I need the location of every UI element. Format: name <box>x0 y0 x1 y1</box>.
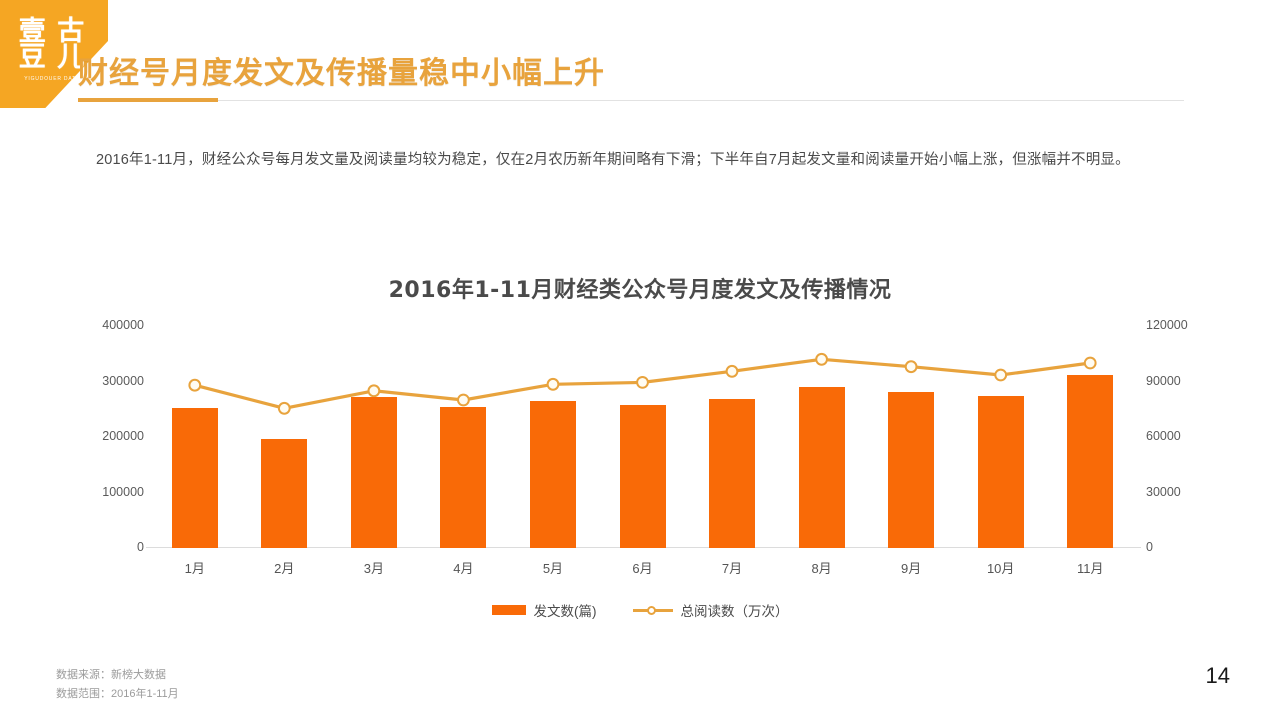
y-axis-right-tick: 90000 <box>1146 374 1181 388</box>
data-range-line: 数据范围：2016年1-11月 <box>56 685 179 704</box>
x-axis-label-10月: 10月 <box>956 558 1046 577</box>
chart-legend: 发文数(篇) 总阅读数（万次） <box>0 600 1280 620</box>
bar-2月 <box>261 439 307 548</box>
line-marker-1月 <box>189 380 200 391</box>
line-marker-6月 <box>637 377 648 388</box>
x-axis-label-7月: 7月 <box>687 558 777 577</box>
line-marker-8月 <box>816 354 827 365</box>
line-marker-9月 <box>906 361 917 372</box>
y-axis-left-tick: 300000 <box>102 374 144 388</box>
bar-3月 <box>351 397 397 548</box>
page-number: 14 <box>1206 663 1230 689</box>
bar-4月 <box>440 407 486 548</box>
chart-title: 2016年1-11月财经类公众号月度发文及传播情况 <box>0 272 1280 304</box>
header-divider <box>78 100 1184 101</box>
legend-bar-swatch <box>492 605 526 615</box>
bar-9月 <box>888 392 934 548</box>
y-axis-left-tick: 200000 <box>102 429 144 443</box>
line-marker-2月 <box>279 403 290 414</box>
line-marker-5月 <box>548 379 559 390</box>
header-divider-accent <box>78 98 218 102</box>
y-axis-right-tick: 30000 <box>1146 485 1181 499</box>
line-marker-4月 <box>458 395 469 406</box>
legend-line-label: 总阅读数（万次） <box>681 600 789 620</box>
logo-subtitle: YIGUDOUER DATA <box>24 76 79 82</box>
plot-area <box>150 326 1135 548</box>
bar-10月 <box>978 396 1024 548</box>
bar-11月 <box>1067 375 1113 548</box>
line-marker-7月 <box>727 366 738 377</box>
data-source-line: 数据来源：新榜大数据 <box>56 666 179 685</box>
x-axis-label-4月: 4月 <box>419 558 509 577</box>
legend-line-swatch <box>633 605 673 615</box>
footer-notes: 数据来源：新榜大数据 数据范围：2016年1-11月 <box>56 666 179 704</box>
intro-paragraph: 2016年1-11月，财经公众号每月发文量及阅读量均较为稳定，仅在2月农历新年期… <box>96 144 1176 177</box>
legend-item-line[interactable]: 总阅读数（万次） <box>633 600 789 620</box>
legend-item-bar[interactable]: 发文数(篇) <box>492 600 597 620</box>
line-marker-11月 <box>1085 358 1096 369</box>
y-axis-left-tick: 0 <box>137 540 144 554</box>
legend-bar-label: 发文数(篇) <box>534 600 597 620</box>
bar-6月 <box>620 405 666 548</box>
page-title: 财经号月度发文及传播量稳中小幅上升 <box>78 48 605 92</box>
y-axis-right-tick: 120000 <box>1146 318 1188 332</box>
x-axis-label-9月: 9月 <box>866 558 956 577</box>
bar-1月 <box>172 408 218 548</box>
x-axis-label-6月: 6月 <box>598 558 688 577</box>
x-axis-label-11月: 11月 <box>1045 558 1135 577</box>
line-marker-3月 <box>369 385 380 396</box>
x-axis-label-5月: 5月 <box>508 558 598 577</box>
bar-5月 <box>530 401 576 548</box>
y-axis-right-tick: 0 <box>1146 540 1153 554</box>
legend-line-marker-icon <box>647 606 656 615</box>
y-axis-right-tick: 60000 <box>1146 429 1181 443</box>
y-axis-left: 0100000200000300000400000 <box>60 318 144 558</box>
x-axis-label-8月: 8月 <box>777 558 867 577</box>
y-axis-left-tick: 400000 <box>102 318 144 332</box>
x-axis-label-3月: 3月 <box>329 558 419 577</box>
x-axis-label-2月: 2月 <box>240 558 330 577</box>
bar-7月 <box>709 399 755 548</box>
x-axis-label-1月: 1月 <box>150 558 240 577</box>
bar-8月 <box>799 387 845 548</box>
y-axis-left-tick: 100000 <box>102 485 144 499</box>
y-axis-right: 0300006000090000120000 <box>1146 318 1236 558</box>
line-marker-10月 <box>995 370 1006 381</box>
